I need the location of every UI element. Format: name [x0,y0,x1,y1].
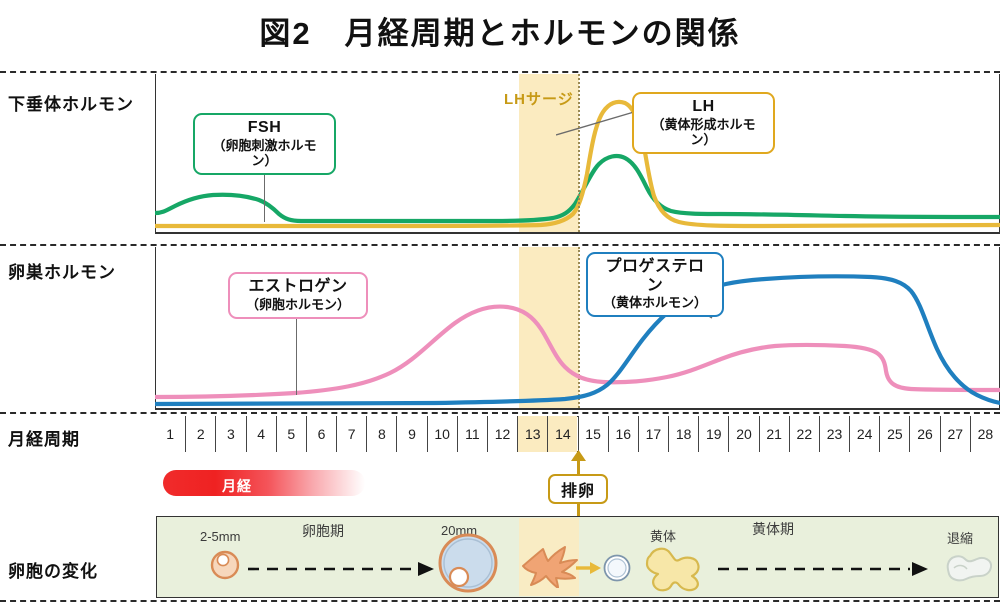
ovum-icon [602,553,632,583]
row-label-pituitary: 下垂体ホルモン [8,90,134,115]
ruptured-follicle-icon [517,540,579,588]
cycle-day-cell: 16 [608,416,638,452]
ovulation-box: 排卵 [548,474,608,504]
cycle-day-cell: 19 [698,416,728,452]
cycle-day-cell: 24 [849,416,879,452]
luteal-phase-arrow [718,562,930,576]
page-title: 図2 月経周期とホルモンの関係 [0,8,1000,53]
cycle-day-cell: 22 [789,416,819,452]
progesterone-callout: プロゲステロン （黄体ホルモン） [586,252,724,317]
fsh-callout-title: FSH [205,119,324,138]
follicle-size-small-label: 2-5mm [200,529,240,544]
row-label-cycle: 月経周期 [8,425,80,450]
corpus-luteum-icon [634,540,710,592]
cycle-day-cell: 13 [517,416,547,452]
estrogen-callout-title: エストロゲン [240,278,356,297]
cycle-day-cell: 27 [940,416,970,452]
follicular-phase-arrow [248,562,436,576]
separator-top [0,71,1000,73]
menstruation-bar [163,470,365,496]
row-label-ovarian: 卵巣ホルモン [8,258,116,283]
cycle-day-cell: 17 [638,416,668,452]
lh-callout: LH （黄体形成ホルモン） [632,92,775,154]
mature-follicle-icon [437,532,499,594]
corpus-albicans-icon [938,546,996,586]
cycle-day-cell: 6 [306,416,336,452]
cycle-day-cell: 25 [879,416,909,452]
primordial-follicle-icon [208,548,242,582]
cycle-day-cell: 12 [487,416,517,452]
cycle-day-cell: 14 [547,416,577,452]
cycle-day-cell: 23 [819,416,849,452]
ovulation-arrow-up-head [570,450,587,461]
menstruation-label: 月経 [222,476,252,496]
cycle-day-cell: 10 [427,416,457,452]
estrogen-leader-line [296,315,297,395]
pituitary-baseline [155,232,1000,234]
progesterone-callout-title: プロゲステロン [598,258,712,295]
cycle-day-cell: 28 [970,416,1000,452]
cycle-day-cell: 20 [728,416,758,452]
follicular-phase-label: 卵胞期 [302,521,344,541]
regression-label: 退縮 [947,528,973,547]
lh-callout-title: LH [644,98,763,117]
cycle-day-cell: 4 [246,416,276,452]
cycle-day-cell: 11 [457,416,487,452]
ovarian-baseline [155,408,1000,410]
separator-pituitary-ovarian [0,244,1000,246]
cycle-day-cell: 8 [366,416,396,452]
separator-ovarian-cycle [0,412,1000,414]
cycle-day-cell: 15 [578,416,608,452]
ovulation-guide-top [578,74,580,232]
fsh-callout: FSH （卵胞刺激ホルモン） [193,113,336,175]
cycle-day-cell: 9 [396,416,426,452]
lh-callout-subtitle: （黄体形成ホルモン） [644,117,763,147]
ovum-release-arrow [576,561,602,575]
progesterone-callout-subtitle: （黄体ホルモン） [598,295,712,310]
cycle-day-cell: 1 [155,416,185,452]
cycle-day-cell: 3 [215,416,245,452]
luteal-phase-label: 黄体期 [752,519,794,539]
cycle-day-cell: 5 [276,416,306,452]
lh-surge-label: LHサージ [504,88,574,109]
estrogen-callout-subtitle: （卵胞ホルモン） [240,297,356,312]
cycle-day-cell: 2 [185,416,215,452]
estrogen-callout: エストロゲン （卵胞ホルモン） [228,272,368,319]
cycle-day-cell: 26 [909,416,939,452]
fsh-callout-subtitle: （卵胞刺激ホルモン） [205,138,324,168]
cycle-day-cell: 18 [668,416,698,452]
cycle-day-cell: 21 [759,416,789,452]
row-label-follicle: 卵胞の変化 [8,557,98,582]
cycle-day-cell: 7 [336,416,366,452]
lh-leader-line [556,110,636,136]
